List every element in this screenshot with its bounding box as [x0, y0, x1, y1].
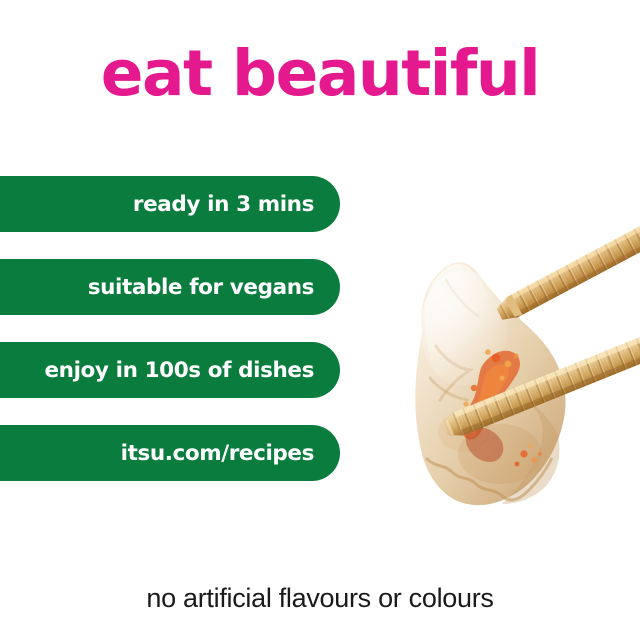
feature-pill-label: ready in 3 mins: [133, 192, 314, 217]
footer-caption: no artificial flavours or colours: [0, 583, 640, 614]
product-photo: [378, 218, 640, 558]
poster-canvas: eat beautiful ready in 3 mins suitable f…: [0, 0, 640, 640]
feature-pill-suitable-for-vegans[interactable]: suitable for vegans: [0, 259, 340, 315]
feature-pill-label: itsu.com/recipes: [121, 441, 314, 466]
feature-pill-ready-in-3-mins[interactable]: ready in 3 mins: [0, 176, 340, 232]
feature-pill-label: enjoy in 100s of dishes: [44, 358, 314, 383]
page-title: eat beautiful: [0, 42, 640, 105]
feature-pill-enjoy-in-100s-of-dishes[interactable]: enjoy in 100s of dishes: [0, 342, 340, 398]
feature-pill-list: ready in 3 mins suitable for vegans enjo…: [0, 176, 340, 481]
feature-pill-label: suitable for vegans: [88, 275, 314, 300]
feature-pill-recipes-link[interactable]: itsu.com/recipes: [0, 425, 340, 481]
